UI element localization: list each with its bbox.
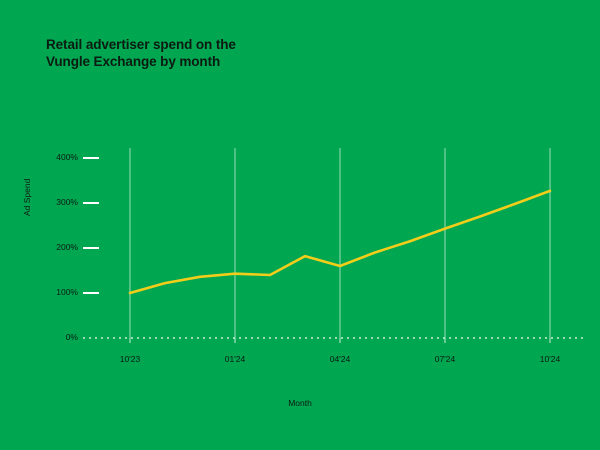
y-axis-tick-label: 0%: [32, 332, 78, 342]
y-axis-tick-label: 200%: [32, 242, 78, 252]
chart-card: Retail advertiser spend on the Vungle Ex…: [0, 0, 600, 450]
y-axis-tick-marks: [83, 158, 99, 293]
y-axis-tick-label: 100%: [32, 287, 78, 297]
x-axis-tick-label: 04'24: [310, 354, 370, 364]
y-axis-tick-label: 300%: [32, 197, 78, 207]
line-chart-svg: [0, 0, 600, 450]
x-axis-title: Month: [0, 398, 600, 408]
gridlines: [130, 148, 550, 338]
x-axis-tick-label: 10'23: [100, 354, 160, 364]
y-axis-title: Ad Spend: [22, 179, 32, 216]
x-axis-tick-label: 10'24: [520, 354, 580, 364]
x-axis-tick-label: 01'24: [205, 354, 265, 364]
x-axis-tick-label: 07'24: [415, 354, 475, 364]
y-axis-tick-label: 400%: [32, 152, 78, 162]
plot-area: 0%100%200%300%400% 10'2301'2404'2407'241…: [0, 0, 600, 450]
